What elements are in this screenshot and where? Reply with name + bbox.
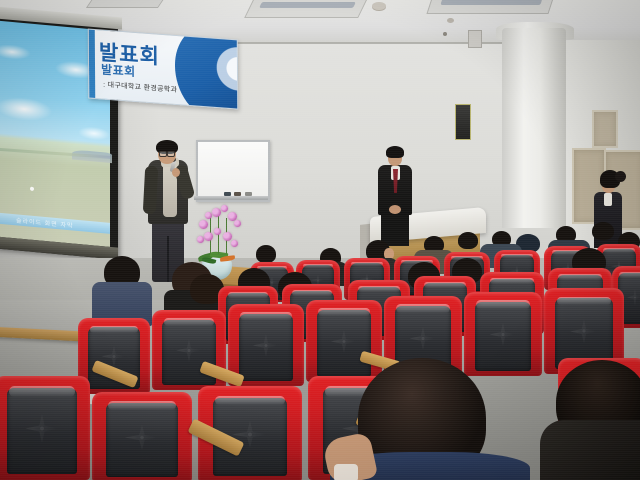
ceiling-fitting <box>443 32 447 36</box>
banner-accent-bar <box>89 30 95 98</box>
banner-subtitle: 발표회 <box>101 60 136 80</box>
suited-man-hands <box>389 205 401 214</box>
ceiling-light-fixture <box>86 0 170 8</box>
banner-organization: : 대구대학교 환경공학과 <box>103 80 177 95</box>
wall-speaker <box>468 30 482 48</box>
bulletin-board <box>592 110 618 148</box>
ceiling-light-fixture <box>244 0 370 18</box>
wall-speaker <box>455 104 471 140</box>
suited-man-hair <box>386 146 404 158</box>
lecture-hall-photo: 슬라이드 화면 자막 발표회 발표회 : 대구대학교 환경공학과 <box>0 0 640 480</box>
whiteboard-marker <box>245 192 252 196</box>
whiteboard-tray <box>194 196 268 200</box>
suited-man-legs <box>381 212 409 246</box>
presenter-hand <box>172 168 180 177</box>
presenter-leg-separation <box>167 236 169 282</box>
standing-woman-shirt <box>604 193 612 206</box>
structural-column <box>502 28 566 228</box>
ceiling-fitting <box>447 18 454 23</box>
eyeglasses-icon <box>159 151 174 155</box>
held-paper <box>334 464 358 480</box>
whiteboard-marker <box>234 192 241 196</box>
slide-marker-dot <box>30 187 34 191</box>
banner-swoosh-graphic <box>175 28 239 109</box>
whiteboard-marker <box>224 192 231 196</box>
standing-woman-hair-bun <box>615 171 626 182</box>
smoke-detector-icon <box>372 2 386 10</box>
ceiling-light-fixture <box>426 0 555 14</box>
presenter-left-arm <box>143 166 158 215</box>
whiteboard <box>196 140 270 202</box>
event-banner: 발표회 발표회 : 대구대학교 환경공학과 <box>88 28 238 109</box>
